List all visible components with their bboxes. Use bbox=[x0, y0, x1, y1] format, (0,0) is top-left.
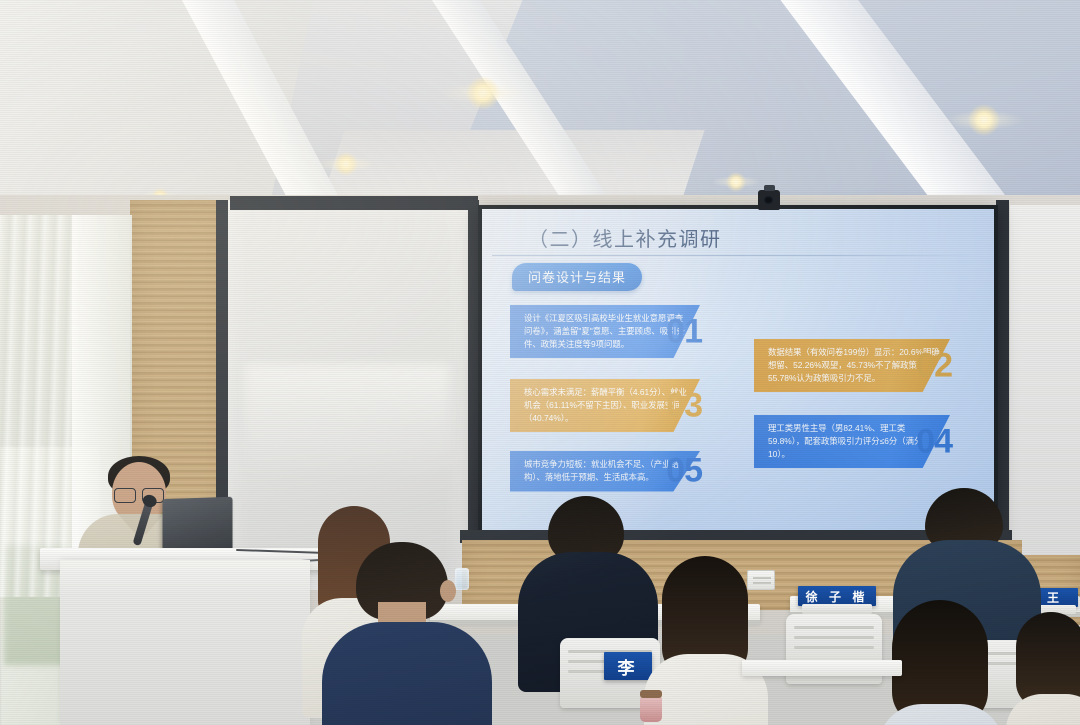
slide-block-05-number: 05 bbox=[666, 452, 702, 491]
ceiling-downlight-1 bbox=[466, 76, 500, 110]
podium: EN 中国安能 CHINA ANNENG bbox=[60, 560, 310, 725]
nameplate-li: 李 bbox=[604, 652, 652, 680]
coffee-cup bbox=[640, 696, 662, 722]
camera-icon bbox=[758, 190, 780, 210]
nameplate-xu-zikai: 徐 子 楷 bbox=[798, 586, 876, 606]
wall-trim-top bbox=[230, 196, 478, 210]
attendee-edge-right bbox=[1016, 612, 1080, 725]
slide-block-04-number: 04 bbox=[916, 422, 952, 461]
slide-block-03: 核心需求未满足：薪酬平衡（4.61分）、就业机会（61.11%不留下主因）、职业… bbox=[510, 379, 700, 432]
attendee-front-woman-right bbox=[892, 600, 992, 725]
desk-front-row bbox=[742, 660, 902, 676]
ceiling-downlight-2 bbox=[334, 152, 358, 176]
slide-section-badge: 问卷设计与结果 bbox=[512, 263, 642, 291]
slide-block-02-number: 02 bbox=[916, 346, 952, 385]
slide-block-01-number: 01 bbox=[666, 312, 702, 351]
laptop-screen bbox=[163, 497, 233, 556]
attendee-front-blue-shirt bbox=[356, 542, 466, 725]
slide-title-rule bbox=[492, 255, 976, 256]
attendee-front-woman-center bbox=[662, 556, 754, 725]
attendee-ear bbox=[440, 580, 456, 602]
conference-room-photo: （二）线上补充调研 问卷设计与结果 设计《江夏区吸引高校毕业生就业意愿调查问卷》… bbox=[0, 0, 1080, 725]
sheer-curtain-left bbox=[0, 215, 78, 597]
nameplate-stand-1 bbox=[802, 604, 872, 614]
slide-block-01: 设计《江夏区吸引高校毕业生就业意愿调查问卷》，涵盖留"夏"意愿、主要顾虑、吸引条… bbox=[510, 305, 700, 358]
slide-surface: （二）线上补充调研 问卷设计与结果 设计《江夏区吸引高校毕业生就业意愿调查问卷》… bbox=[482, 209, 994, 536]
slide-block-04: 理工类男性主导（男82.41%、理工类59.8%），配套政策吸引力评分≤6分（满… bbox=[754, 415, 950, 468]
projection-screen: （二）线上补充调研 问卷设计与结果 设计《江夏区吸引高校毕业生就业意愿调查问卷》… bbox=[478, 205, 998, 540]
slide-block-05: 城市竞争力短板：就业机会不足、（产业结构）、落地低于预期、生活成本高。 05 bbox=[510, 451, 700, 492]
ceiling-downlight-4 bbox=[726, 172, 746, 192]
ceiling bbox=[0, 0, 1080, 215]
ceiling-downlight-3 bbox=[968, 104, 1000, 136]
slide-block-02: 数据结果（有效问卷199份）显示：20.6%明确想留、52.26%观望，45.7… bbox=[754, 339, 950, 392]
attendee-torso bbox=[1006, 694, 1080, 725]
slide-block-03-number: 03 bbox=[666, 386, 702, 425]
white-wall-panel-right bbox=[1010, 205, 1080, 590]
slide-title: （二）线上补充调研 bbox=[528, 223, 722, 252]
attendee-torso bbox=[322, 622, 492, 725]
